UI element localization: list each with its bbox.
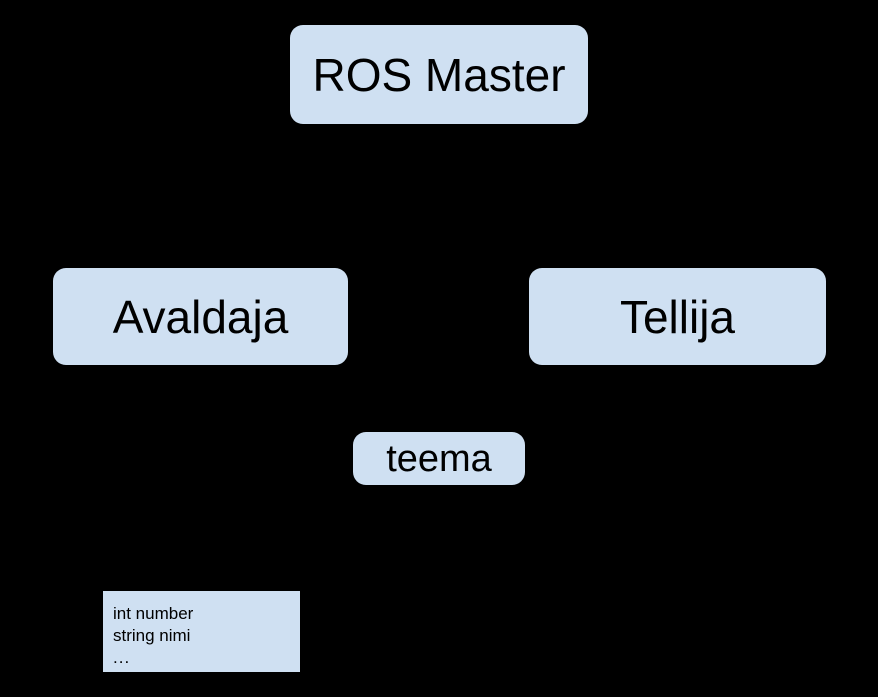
node-ros-master-label: ROS Master <box>312 52 565 98</box>
node-topic-label: teema <box>386 440 492 478</box>
node-publisher[interactable]: Avaldaja <box>53 268 348 365</box>
node-subscriber-label: Tellija <box>620 294 735 340</box>
message-field-string-nimi: string nimi <box>113 625 300 647</box>
message-field-ellipsis: ... <box>113 647 300 669</box>
node-message-fields[interactable]: int number string nimi ... <box>103 591 300 672</box>
node-topic[interactable]: teema <box>353 432 525 485</box>
message-field-int-number: int number <box>113 603 300 625</box>
node-subscriber[interactable]: Tellija <box>529 268 826 365</box>
node-ros-master[interactable]: ROS Master <box>290 25 588 124</box>
diagram-canvas: ROS Master Avaldaja Tellija teema int nu… <box>0 0 878 697</box>
node-publisher-label: Avaldaja <box>113 294 289 340</box>
